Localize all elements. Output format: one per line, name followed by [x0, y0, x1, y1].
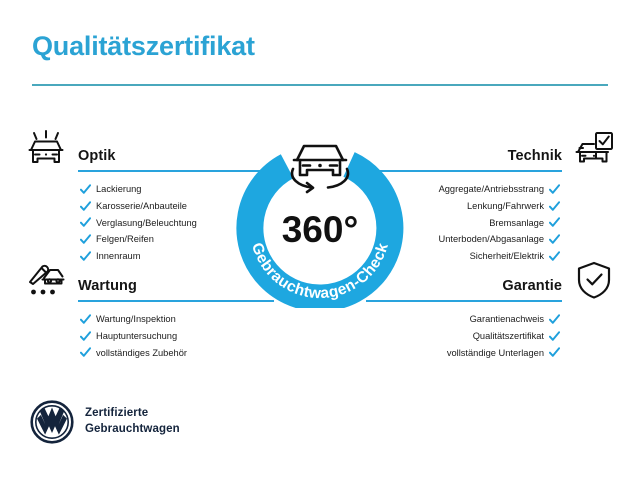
list-item-label: vollständiges Zubehör: [96, 347, 187, 360]
list-item-label: Qualitätszertifikat: [473, 330, 544, 343]
check-icon: [80, 217, 91, 228]
check-icon: [80, 314, 91, 325]
car-shine-icon: [24, 128, 68, 172]
badge-360-check: 360° Gebrauchtwagen-Check: [228, 124, 412, 308]
list-item-label: Bremsanlage: [489, 217, 544, 230]
header: Qualitätszertifikat: [32, 32, 608, 86]
list-item-label: Karosserie/Anbauteile: [96, 200, 187, 213]
check-icon: [80, 201, 91, 212]
list-item-label: Lenkung/Fahrwerk: [467, 200, 544, 213]
list-item-label: Felgen/Reifen: [96, 233, 154, 246]
header-divider: [32, 84, 608, 86]
car-checkbox-icon: [572, 128, 616, 172]
wrench-car-icon: [24, 258, 68, 302]
check-icon: [80, 331, 91, 342]
check-icon: [80, 234, 91, 245]
list-item: Garantienachweis: [356, 311, 616, 328]
section-wartung-list: Wartung/Inspektion Hauptuntersuchung vol…: [24, 311, 284, 361]
list-item: Wartung/Inspektion: [24, 311, 284, 328]
list-item-label: Hauptuntersuchung: [96, 330, 177, 343]
list-item: Qualitätszertifikat: [356, 328, 616, 345]
badge-value: 360°: [282, 209, 359, 250]
list-item-label: Unterboden/Abgasanlage: [439, 233, 544, 246]
section-garantie-list: Garantienachweis Qualitätszertifikat vol…: [356, 311, 616, 361]
list-item: vollständiges Zubehör: [24, 344, 284, 361]
list-item-label: Wartung/Inspektion: [96, 313, 176, 326]
check-icon: [549, 314, 560, 325]
list-item: vollständige Unterlagen: [356, 344, 616, 361]
check-icon: [80, 184, 91, 195]
footer-text: Zertifizierte Gebrauchtwagen: [85, 406, 180, 437]
check-icon: [549, 217, 560, 228]
volkswagen-logo: [30, 400, 74, 444]
list-item-label: Aggregate/Antriebsstrang: [439, 183, 544, 196]
page-title: Qualitätszertifikat: [32, 32, 608, 62]
list-item-label: Verglasung/Beleuchtung: [96, 217, 197, 230]
list-item-label: Garantienachweis: [470, 313, 544, 326]
footer-brand: Zertifizierte Gebrauchtwagen: [30, 400, 180, 444]
car-rotation-icon: [292, 146, 348, 192]
check-icon: [549, 347, 560, 358]
check-icon: [549, 234, 560, 245]
check-icon: [549, 184, 560, 195]
check-icon: [80, 347, 91, 358]
footer-line-2: Gebrauchtwagen: [85, 422, 180, 438]
list-item-label: Lackierung: [96, 183, 141, 196]
certificate-page: Qualitätszertifikat Optik: [0, 0, 640, 480]
check-icon: [549, 331, 560, 342]
check-icon: [549, 201, 560, 212]
list-item: Hauptuntersuchung: [24, 328, 284, 345]
footer-line-1: Zertifizierte: [85, 406, 180, 422]
shield-check-icon: [572, 258, 616, 302]
list-item-label: vollständige Unterlagen: [447, 347, 544, 360]
